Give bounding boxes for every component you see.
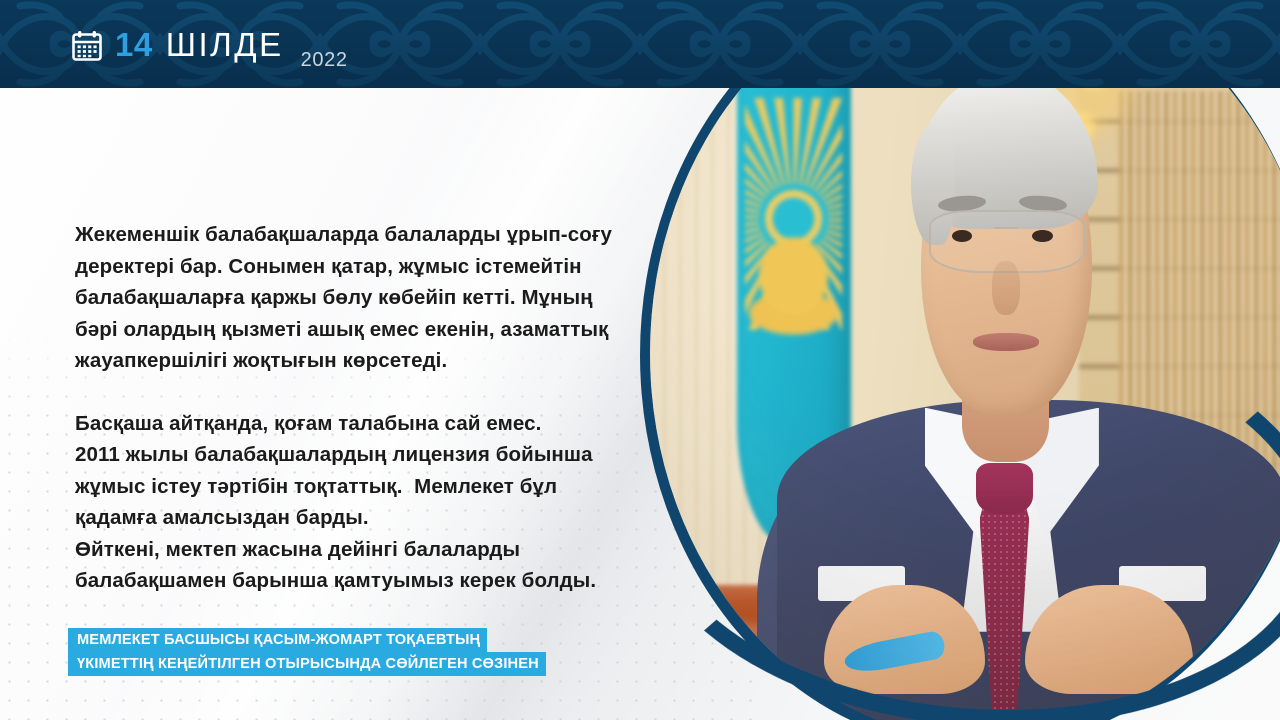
paragraph-1: Жекеменшік балабақшаларда балаларды ұрып… — [75, 219, 660, 377]
date-header-bar: 14 ШІЛДЕ 2022 — [0, 0, 1280, 88]
paragraph-line: деректері бар. Сонымен қатар, жұмыс істе… — [75, 251, 660, 283]
calendar-icon — [72, 30, 102, 61]
paragraph-line: бәрі олардың қызметі ашық емес екенін, а… — [75, 314, 660, 346]
slide-canvas: 14 ШІЛДЕ 2022 Жекеменшік балабақшаларда … — [0, 0, 1280, 720]
header-content: 14 ШІЛДЕ 2022 — [72, 0, 348, 88]
paragraph-line: Өйткені, мектеп жасына дейінгі балаларды — [75, 534, 660, 566]
header-year: 2022 — [301, 50, 348, 70]
paragraph-2: Басқаша айтқанда, қоғам талабына сай еме… — [75, 408, 660, 597]
paragraph-line: Басқаша айтқанда, қоғам талабына сай еме… — [75, 408, 660, 440]
paragraph-line: Жекеменшік балабақшаларда балаларды ұрып… — [75, 219, 660, 251]
header-day: 14 — [115, 28, 153, 61]
portrait-image — [650, 0, 1280, 720]
paragraph-line: балабақшамен барынша қамтуымыз керек бол… — [75, 565, 660, 597]
source-caption-line-1: МЕМЛЕКЕТ БАСШЫСЫ ҚАСЫМ-ЖОМАРТ ТОҚАЕВТЫҢ — [68, 628, 487, 652]
header-month: ШІЛДЕ — [166, 28, 284, 61]
source-caption-line-2: ҮКІМЕТТІҢ КЕҢЕЙТІЛГЕН ОТЫРЫСЫНДА СӨЙЛЕГЕ… — [68, 652, 546, 676]
paragraph-line: жауапкершілігі жоқтығын көрсетеді. — [75, 345, 660, 377]
paragraph-line: жұмыс істеу тәртібін тоқтаттық. Мемлекет… — [75, 471, 660, 503]
paragraph-line: 2011 жылы балабақшалардың лицензия бойын… — [75, 439, 660, 471]
quote-body: Жекеменшік балабақшаларда балаларды ұрып… — [75, 219, 660, 597]
paragraph-line: балабақшаларға қаржы бөлу көбейіп кетті.… — [75, 282, 660, 314]
source-caption: МЕМЛЕКЕТ БАСШЫСЫ ҚАСЫМ-ЖОМАРТ ТОҚАЕВТЫҢ … — [68, 628, 546, 676]
portrait-photo — [640, 0, 1280, 720]
portrait-vignette — [650, 0, 1280, 720]
paragraph-line: қадамға амалсыздан барды. — [75, 502, 660, 534]
